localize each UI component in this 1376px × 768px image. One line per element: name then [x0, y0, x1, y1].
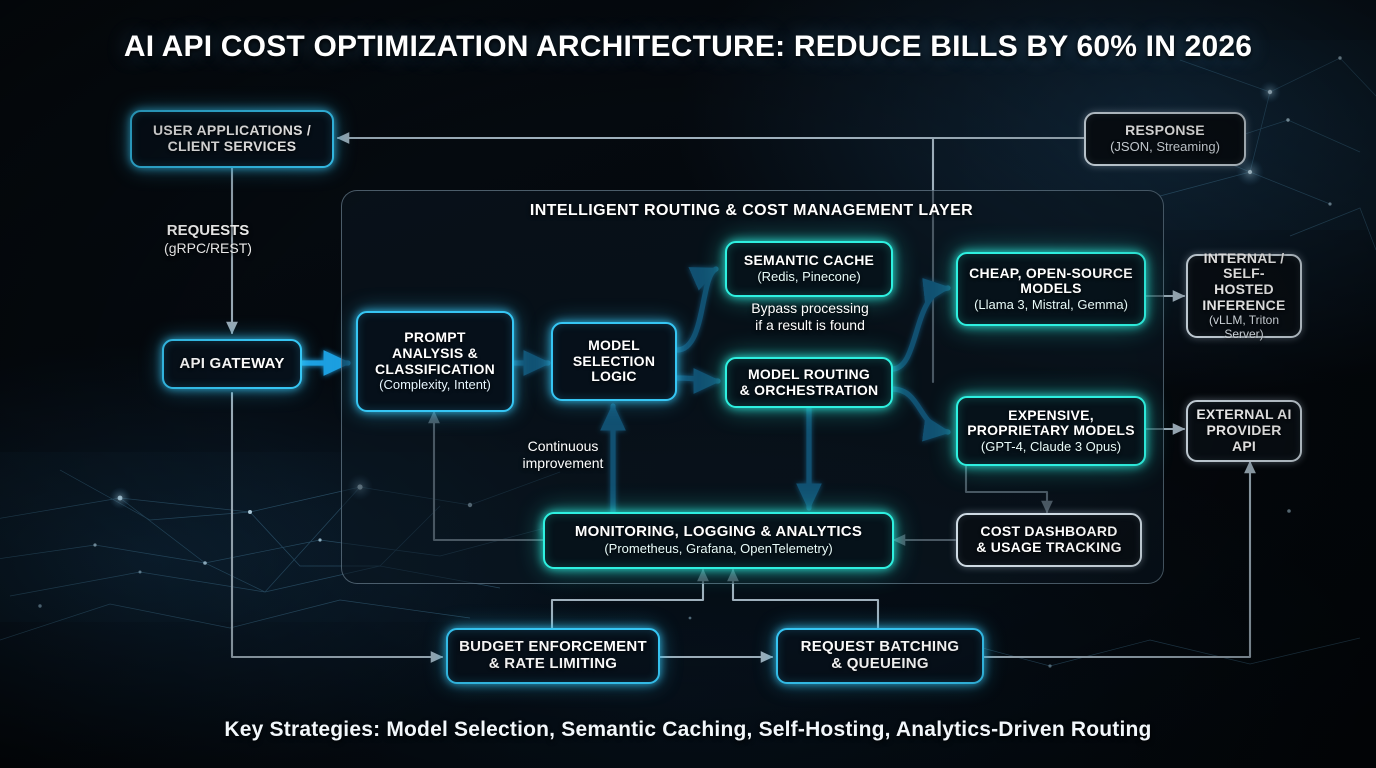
node-cost-dashboard-label: COST DASHBOARD & USAGE TRACKING [976, 524, 1122, 555]
node-budget-enforcement[interactable]: BUDGET ENFORCEMENT & RATE LIMITING [446, 628, 660, 684]
node-semantic-cache-sublabel: (Redis, Pinecone) [757, 270, 860, 285]
node-external-provider-label: EXTERNAL AI PROVIDER API [1194, 407, 1294, 454]
node-response[interactable]: RESPONSE (JSON, Streaming) [1084, 112, 1246, 166]
node-monitoring-label: MONITORING, LOGGING & ANALYTICS [575, 524, 862, 541]
node-monitoring-sublabel: (Prometheus, Grafana, OpenTelemetry) [604, 542, 832, 557]
node-response-label: RESPONSE [1125, 123, 1205, 139]
node-external-provider[interactable]: EXTERNAL AI PROVIDER API [1186, 400, 1302, 462]
node-model-selection-logic[interactable]: MODEL SELECTION LOGIC [551, 322, 677, 401]
page-title: AI API COST OPTIMIZATION ARCHITECTURE: R… [0, 30, 1376, 64]
node-budget-enforcement-label: BUDGET ENFORCEMENT & RATE LIMITING [459, 639, 647, 673]
edge-label-cache-bypass: Bypass processing if a result is found [714, 300, 906, 333]
node-monitoring[interactable]: MONITORING, LOGGING & ANALYTICS (Prometh… [543, 512, 894, 569]
node-request-batching[interactable]: REQUEST BATCHING & QUEUEING [776, 628, 984, 684]
node-expensive-models-label: EXPENSIVE, PROPRIETARY MODELS [967, 408, 1135, 439]
node-user-applications-label: USER APPLICATIONS / CLIENT SERVICES [153, 123, 311, 154]
node-semantic-cache-label: SEMANTIC CACHE [744, 253, 874, 269]
node-cheap-models[interactable]: CHEAP, OPEN-SOURCE MODELS (Llama 3, Mist… [956, 252, 1146, 326]
node-model-routing-label: MODEL ROUTING & ORCHESTRATION [740, 367, 879, 398]
node-semantic-cache[interactable]: SEMANTIC CACHE (Redis, Pinecone) [725, 241, 893, 297]
diagram-canvas: INTELLIGENT ROUTING & COST MANAGEMENT LA… [0, 0, 1376, 768]
node-prompt-analysis[interactable]: PROMPT ANALYSIS & CLASSIFICATION (Comple… [356, 311, 514, 412]
node-api-gateway-label: API GATEWAY [179, 356, 284, 373]
node-prompt-analysis-label: PROMPT ANALYSIS & CLASSIFICATION [375, 330, 495, 377]
node-expensive-models[interactable]: EXPENSIVE, PROPRIETARY MODELS (GPT-4, Cl… [956, 396, 1146, 466]
node-internal-inference[interactable]: INTERNAL / SELF-HOSTED INFERENCE (vLLM, … [1186, 254, 1302, 338]
node-internal-inference-label: INTERNAL / SELF-HOSTED INFERENCE [1194, 251, 1294, 314]
node-request-batching-label: REQUEST BATCHING & QUEUEING [801, 639, 960, 673]
node-api-gateway[interactable]: API GATEWAY [162, 339, 302, 389]
node-user-applications[interactable]: USER APPLICATIONS / CLIENT SERVICES [130, 110, 334, 168]
node-cheap-models-label: CHEAP, OPEN-SOURCE MODELS [969, 266, 1133, 297]
edge-label-continuous-improvement: Continuous improvement [487, 438, 639, 471]
edge-label-requests-title: REQUESTS [118, 222, 298, 240]
edge-label-requests-sub: (gRPC/REST) [118, 240, 298, 257]
node-model-selection-logic-label: MODEL SELECTION LOGIC [573, 338, 655, 385]
node-prompt-analysis-sublabel: (Complexity, Intent) [379, 378, 491, 393]
node-response-sublabel: (JSON, Streaming) [1110, 140, 1220, 155]
node-cheap-models-sublabel: (Llama 3, Mistral, Gemma) [974, 298, 1128, 313]
node-model-routing[interactable]: MODEL ROUTING & ORCHESTRATION [725, 357, 893, 408]
node-cost-dashboard[interactable]: COST DASHBOARD & USAGE TRACKING [956, 513, 1142, 567]
key-strategies-footer: Key Strategies: Model Selection, Semanti… [0, 718, 1376, 742]
node-expensive-models-sublabel: (GPT-4, Claude 3 Opus) [981, 440, 1121, 455]
edge-label-requests: REQUESTS (gRPC/REST) [118, 222, 298, 256]
routing-layer-panel-title: INTELLIGENT ROUTING & COST MANAGEMENT LA… [341, 202, 1162, 220]
node-internal-inference-sublabel: (vLLM, Triton Server) [1194, 314, 1294, 341]
